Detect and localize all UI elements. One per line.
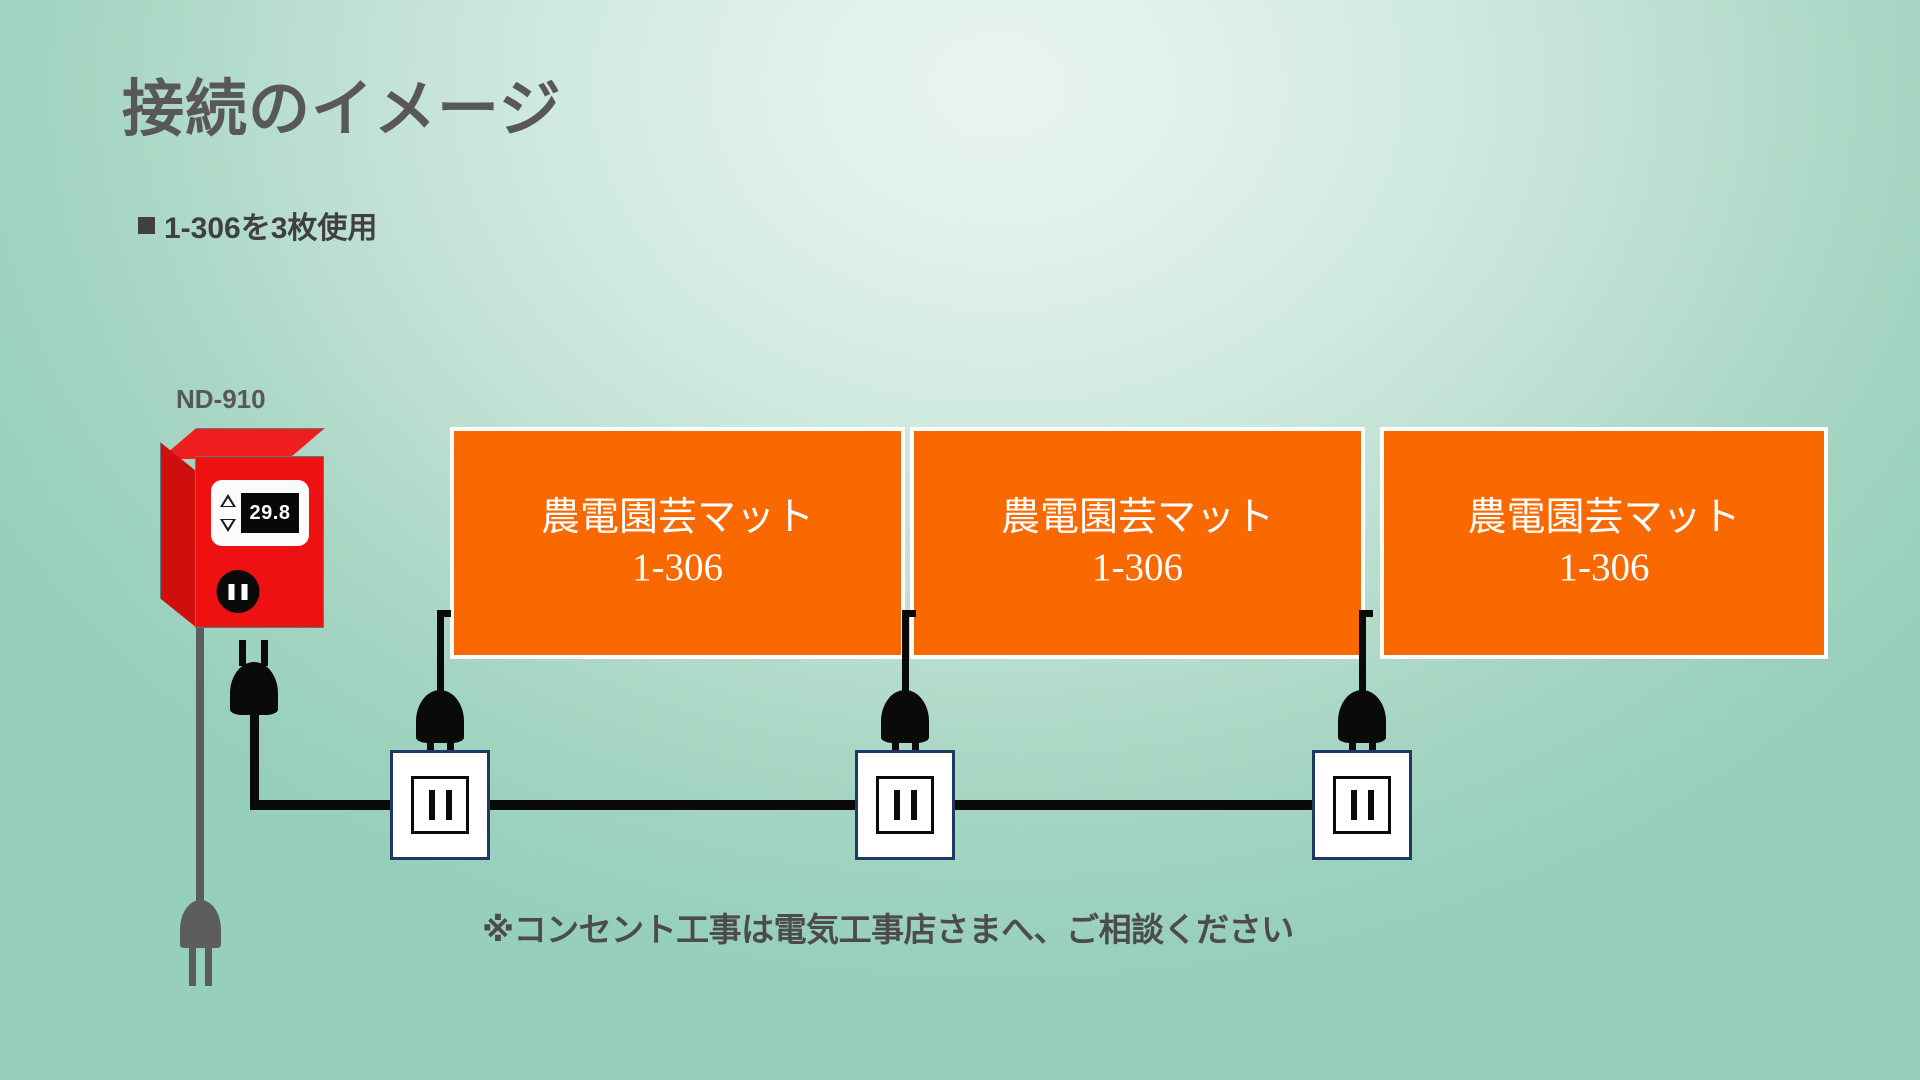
mains-plug-prong-left	[189, 944, 196, 986]
mat-2-plug-body	[881, 690, 929, 743]
temperature-adjust-arrows[interactable]	[219, 494, 236, 532]
controller-cord-vertical	[250, 712, 259, 809]
mat-3-model: 1-306	[1559, 543, 1650, 593]
outlet-3-face	[1333, 776, 1391, 834]
mat-1-plug-body	[416, 690, 464, 743]
outlet-2-slot-right	[911, 790, 917, 820]
outlet-1-face	[411, 776, 469, 834]
temperature-readout: 29.8	[241, 493, 299, 533]
mat-3-name: 農電園芸マット	[1467, 493, 1740, 543]
controller-side-face	[160, 442, 197, 628]
plug-body	[230, 662, 278, 715]
outlet-1-slot-right	[446, 790, 452, 820]
mat-1-model: 1-306	[632, 543, 723, 593]
square-bullet-icon	[138, 217, 155, 234]
socket-slot-left	[229, 584, 235, 600]
outlet-3-slot-right	[1368, 790, 1374, 820]
mat-2-cord-vertical	[902, 610, 909, 698]
slide-canvas: 接続のイメージ 1-306を3枚使用 ND-910 29.8	[0, 0, 1920, 1080]
outlet-3[interactable]	[1312, 750, 1412, 860]
mat-3-plug-body	[1338, 690, 1386, 743]
outlet-2-slot-left	[894, 790, 900, 820]
outlet-2-face	[876, 776, 934, 834]
outlet-3-slot-left	[1351, 790, 1357, 820]
triangle-down-icon[interactable]	[220, 519, 236, 532]
mat-2-name: 農電園芸マット	[1001, 493, 1274, 543]
plug-prong-right	[261, 640, 268, 666]
bullet-item: 1-306を3枚使用	[138, 203, 377, 247]
controller-display-panel: 29.8	[211, 480, 309, 546]
socket-slot-right	[242, 584, 248, 600]
outlet-1[interactable]	[390, 750, 490, 860]
controller-label: ND-910	[176, 384, 266, 415]
mat-1: 農電園芸マット 1-306	[450, 427, 905, 659]
mains-plug-prong-right	[205, 944, 212, 986]
mat-2: 農電園芸マット 1-306	[910, 427, 1365, 659]
bullet-label: 1-306を3枚使用	[164, 203, 377, 247]
mat-2-model: 1-306	[1092, 543, 1183, 593]
mains-plug[interactable]	[176, 900, 224, 990]
mat-1-cord-vertical	[437, 610, 444, 698]
controller-top-face	[160, 428, 325, 459]
nd-910-controller[interactable]: 29.8	[160, 428, 325, 643]
controller-socket[interactable]	[217, 570, 260, 613]
footnote: ※コンセント工事は電気工事店さまへ、ご相談ください	[482, 903, 1294, 951]
mains-cord-vertical	[196, 628, 204, 911]
outlet-1-slot-left	[429, 790, 435, 820]
mat-1-name: 農電園芸マット	[541, 493, 814, 543]
plug-prong-left	[239, 640, 246, 666]
outlet-2[interactable]	[855, 750, 955, 860]
mat-3-cord-vertical	[1359, 610, 1366, 698]
mains-plug-body	[180, 900, 221, 948]
controller-plug[interactable]	[228, 640, 280, 716]
page-title: 接続のイメージ	[122, 58, 562, 148]
triangle-up-icon[interactable]	[220, 494, 236, 507]
mat-3: 農電園芸マット 1-306	[1380, 427, 1828, 659]
